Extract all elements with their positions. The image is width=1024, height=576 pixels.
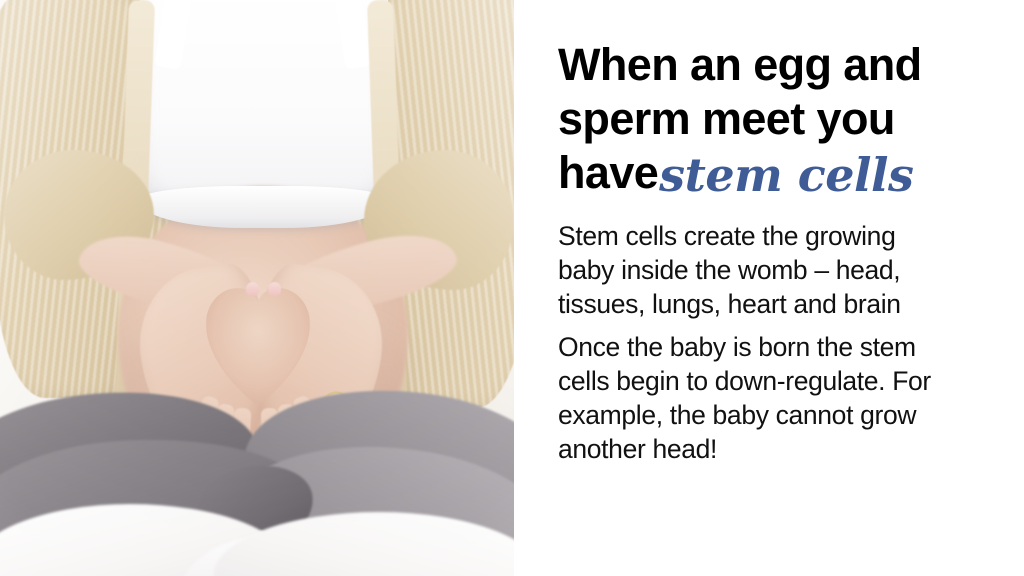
headline-line-2: sperm meet you xyxy=(558,92,958,146)
body-paragraph-1: Stem cells create the growing baby insid… xyxy=(558,219,954,321)
body-paragraph-2: Once the baby is born the stem cells beg… xyxy=(558,330,954,466)
headline-line-3: havestem cells xyxy=(558,146,958,200)
page-title: When an egg and sperm meet you havestem … xyxy=(558,38,958,200)
nail-thumb-left xyxy=(246,282,259,296)
pregnancy-photo xyxy=(0,0,514,576)
slide: When an egg and sperm meet you havestem … xyxy=(0,0,1024,576)
body-copy: Stem cells create the growing baby insid… xyxy=(558,219,954,466)
text-panel: When an egg and sperm meet you havestem … xyxy=(514,0,1024,576)
headline-plain-word: have xyxy=(558,147,658,198)
nail-thumb-right xyxy=(268,282,281,296)
headline-script-phrase: stem cells xyxy=(659,148,913,202)
headline-line-1: When an egg and xyxy=(558,38,958,92)
